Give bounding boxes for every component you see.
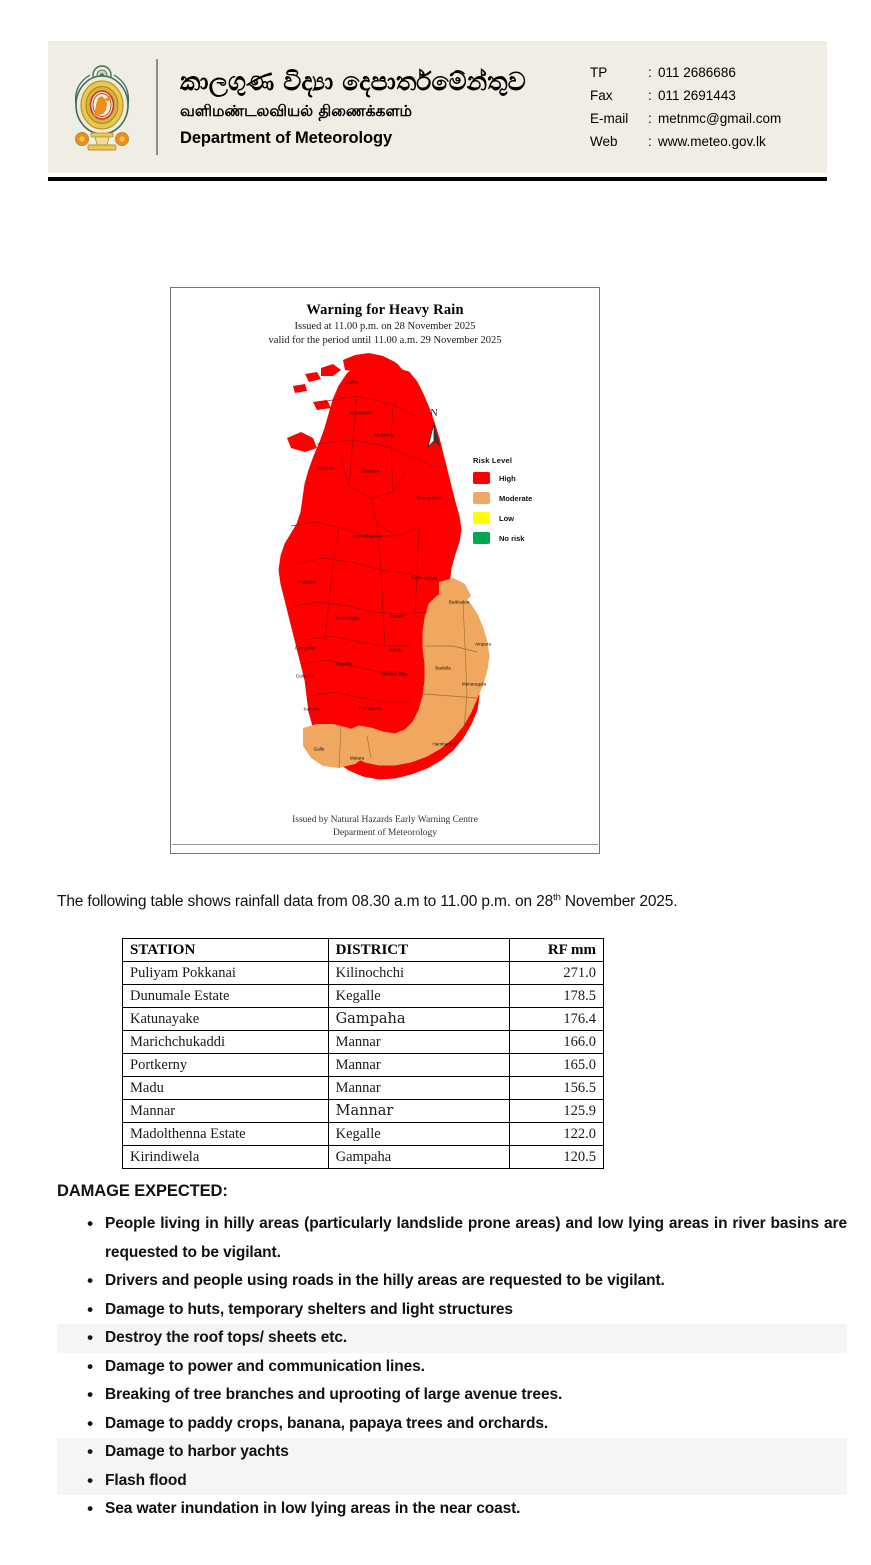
legend-item-no-risk: No risk <box>473 532 583 544</box>
table-row: Katunayake Gampaha 176.4 <box>123 1008 604 1031</box>
cell-district: Mannar <box>328 1054 510 1077</box>
cell-rf: 120.5 <box>510 1146 604 1169</box>
legend-swatch-low <box>473 512 490 524</box>
bullet-icon: • <box>75 1381 105 1410</box>
north-arrow-label: N <box>416 409 452 419</box>
bullet-icon: • <box>75 1296 105 1325</box>
contact-row-tp: TP : 011 2686686 <box>590 61 827 84</box>
intro-ordinal-suffix: th <box>553 892 561 903</box>
risk-level-legend: Risk Level High Moderate Low No risk <box>473 456 583 552</box>
damage-expected-heading: DAMAGE EXPECTED: <box>57 1182 228 1201</box>
table-row: Mannar Mannar 125.9 <box>123 1100 604 1123</box>
table-row: Madolthenna Estate Kegalle 122.0 <box>123 1123 604 1146</box>
list-item-text: Destroy the roof tops/ sheets etc. <box>105 1324 847 1353</box>
contact-value-email[interactable]: metnmc@gmail.com <box>658 107 827 130</box>
cell-district: Mannar <box>328 1100 510 1123</box>
org-name-sinhala: කාලගුණ විද්‍යා දෙපාර්තමේන්තුව <box>180 66 580 97</box>
list-item-text: Damage to paddy crops, banana, papaya tr… <box>105 1410 847 1439</box>
cell-rf: 271.0 <box>510 962 604 985</box>
cell-rf: 178.5 <box>510 985 604 1008</box>
list-item-text: People living in hilly areas (particular… <box>105 1210 847 1267</box>
cell-rf: 165.0 <box>510 1054 604 1077</box>
contact-separator: : <box>648 107 658 130</box>
table-row: Kirindiwela Gampaha 120.5 <box>123 1146 604 1169</box>
contact-label: Web <box>590 130 648 153</box>
legend-label-high: High <box>499 474 516 483</box>
bullet-icon: • <box>75 1495 105 1524</box>
legend-swatch-no-risk <box>473 532 490 544</box>
list-item: • Damage to paddy crops, banana, papaya … <box>57 1410 847 1439</box>
contact-value-fax: 011 2691443 <box>658 84 827 107</box>
table-header-row: STATION DISTRICT RF mm <box>123 939 604 962</box>
contact-value-phone: 011 2686686 <box>658 61 827 84</box>
legend-label-moderate: Moderate <box>499 494 532 503</box>
legend-swatch-moderate <box>473 492 490 504</box>
cell-station: Mannar <box>123 1100 329 1123</box>
list-item: • Damage to power and communication line… <box>57 1353 847 1382</box>
cell-station: Madu <box>123 1077 329 1100</box>
cell-station: Katunayake <box>123 1008 329 1031</box>
legend-swatch-high <box>473 472 490 484</box>
table-row: Madu Mannar 156.5 <box>123 1077 604 1100</box>
list-item: • Destroy the roof tops/ sheets etc. <box>57 1324 847 1353</box>
map-footer-line1: Issued by Natural Hazards Early Warning … <box>171 814 599 826</box>
list-item: • Sea water inundation in low lying area… <box>57 1495 847 1524</box>
list-item: • People living in hilly areas (particul… <box>57 1210 847 1267</box>
contact-label: Fax <box>590 84 648 107</box>
cell-station: Kirindiwela <box>123 1146 329 1169</box>
warning-map-figure: Warning for Heavy Rain Issued at 11.00 p… <box>170 287 600 854</box>
cell-rf: 122.0 <box>510 1123 604 1146</box>
cell-station: Puliyam Pokkanai <box>123 962 329 985</box>
cell-station: Marichchukaddi <box>123 1031 329 1054</box>
bullet-icon: • <box>75 1438 105 1467</box>
contact-separator: : <box>648 130 658 153</box>
cell-district: Kegalle <box>328 985 510 1008</box>
bullet-icon: • <box>75 1210 105 1239</box>
sri-lanka-national-emblem-icon <box>71 59 133 155</box>
column-header-rf-mm: RF mm <box>510 939 604 962</box>
list-item-text: Drivers and people using roads in the hi… <box>105 1267 847 1296</box>
organisation-names: කාලගුණ විද්‍යා දෙපාර්තමේන්තුව வளிமண்டலவி… <box>180 66 580 148</box>
cell-rf: 166.0 <box>510 1031 604 1054</box>
bullet-icon: • <box>75 1467 105 1496</box>
letterhead-divider <box>156 59 158 155</box>
bullet-icon: • <box>75 1353 105 1382</box>
list-item: • Flash flood <box>57 1467 847 1496</box>
map-footer-line2: Deparment of Meteorology <box>171 827 599 839</box>
bullet-icon: • <box>75 1410 105 1439</box>
map-canvas: Jaffna Kilinochchi Mullaitivu Mannar Vav… <box>171 346 601 801</box>
map-footer-rule <box>172 844 598 845</box>
legend-item-low: Low <box>473 512 583 524</box>
table-row: Puliyam Pokkanai Kilinochchi 271.0 <box>123 962 604 985</box>
legend-label-no-risk: No risk <box>499 534 524 543</box>
sri-lanka-risk-map <box>171 346 601 801</box>
cell-district: Mannar <box>328 1077 510 1100</box>
org-name-english: Department of Meteorology <box>180 129 580 148</box>
list-item: • Damage to harbor yachts <box>57 1438 847 1467</box>
contact-separator: : <box>648 61 658 84</box>
cell-district: Kilinochchi <box>328 962 510 985</box>
contact-label: TP <box>590 61 648 84</box>
cell-station: Dunumale Estate <box>123 985 329 1008</box>
list-item-text: Flash flood <box>105 1467 847 1496</box>
list-item: • Damage to huts, temporary shelters and… <box>57 1296 847 1325</box>
list-item-text: Breaking of tree branches and uprooting … <box>105 1381 847 1410</box>
list-item-text: Sea water inundation in low lying areas … <box>105 1495 847 1524</box>
org-name-tamil: வளிமண்டலவியல் திணைக்களம் <box>180 100 580 123</box>
map-footer: Issued by Natural Hazards Early Warning … <box>171 814 599 839</box>
cell-station: Madolthenna Estate <box>123 1123 329 1146</box>
letterhead-bottom-rule <box>48 177 827 181</box>
bullet-icon: • <box>75 1324 105 1353</box>
map-title: Warning for Heavy Rain <box>171 302 599 319</box>
cell-district: Gampaha <box>328 1008 510 1031</box>
rainfall-table: STATION DISTRICT RF mm Puliyam Pokkanai … <box>122 938 604 1169</box>
intro-prefix: The following table shows rainfall data … <box>57 893 553 910</box>
list-item-text: Damage to power and communication lines. <box>105 1353 847 1382</box>
damage-bullet-list: • People living in hilly areas (particul… <box>57 1210 847 1524</box>
contact-row-fax: Fax : 011 2691443 <box>590 84 827 107</box>
legend-item-high: High <box>473 472 583 484</box>
contact-row-web: Web : www.meteo.gov.lk <box>590 130 827 153</box>
column-header-district: DISTRICT <box>328 939 510 962</box>
cell-rf: 125.9 <box>510 1100 604 1123</box>
cell-rf: 156.5 <box>510 1077 604 1100</box>
contact-separator: : <box>648 84 658 107</box>
list-item-text: Damage to harbor yachts <box>105 1438 847 1467</box>
cell-district: Mannar <box>328 1031 510 1054</box>
contact-details: TP : 011 2686686 Fax : 011 2691443 E-mai… <box>580 61 827 154</box>
legend-item-moderate: Moderate <box>473 492 583 504</box>
table-row: Dunumale Estate Kegalle 178.5 <box>123 985 604 1008</box>
contact-value-website[interactable]: www.meteo.gov.lk <box>658 130 827 153</box>
cell-district: Kegalle <box>328 1123 510 1146</box>
list-item-text: Damage to huts, temporary shelters and l… <box>105 1296 847 1325</box>
north-arrow: N <box>416 409 452 451</box>
letterhead: කාලගුණ විද්‍යා දෙපාර්තමේන්තුව வளிமண்டலவி… <box>48 41 827 173</box>
cell-rf: 176.4 <box>510 1008 604 1031</box>
cell-district: Gampaha <box>328 1146 510 1169</box>
contact-row-email: E-mail : metnmc@gmail.com <box>590 107 827 130</box>
list-item: • Drivers and people using roads in the … <box>57 1267 847 1296</box>
map-issued-line: Issued at 11.00 p.m. on 28 November 2025 <box>171 320 599 333</box>
table-row: Portkerny Mannar 165.0 <box>123 1054 604 1077</box>
table-row: Marichchukaddi Mannar 166.0 <box>123 1031 604 1054</box>
legend-label-low: Low <box>499 514 514 523</box>
intro-suffix: November 2025. <box>561 893 678 910</box>
list-item: • Breaking of tree branches and uprootin… <box>57 1381 847 1410</box>
crest-container <box>48 59 156 155</box>
contact-label: E-mail <box>590 107 648 130</box>
legend-title: Risk Level <box>473 456 583 465</box>
bullet-icon: • <box>75 1267 105 1296</box>
cell-station: Portkerny <box>123 1054 329 1077</box>
north-arrow-icon <box>423 421 445 449</box>
intro-sentence: The following table shows rainfall data … <box>57 892 847 911</box>
column-header-station: STATION <box>123 939 329 962</box>
